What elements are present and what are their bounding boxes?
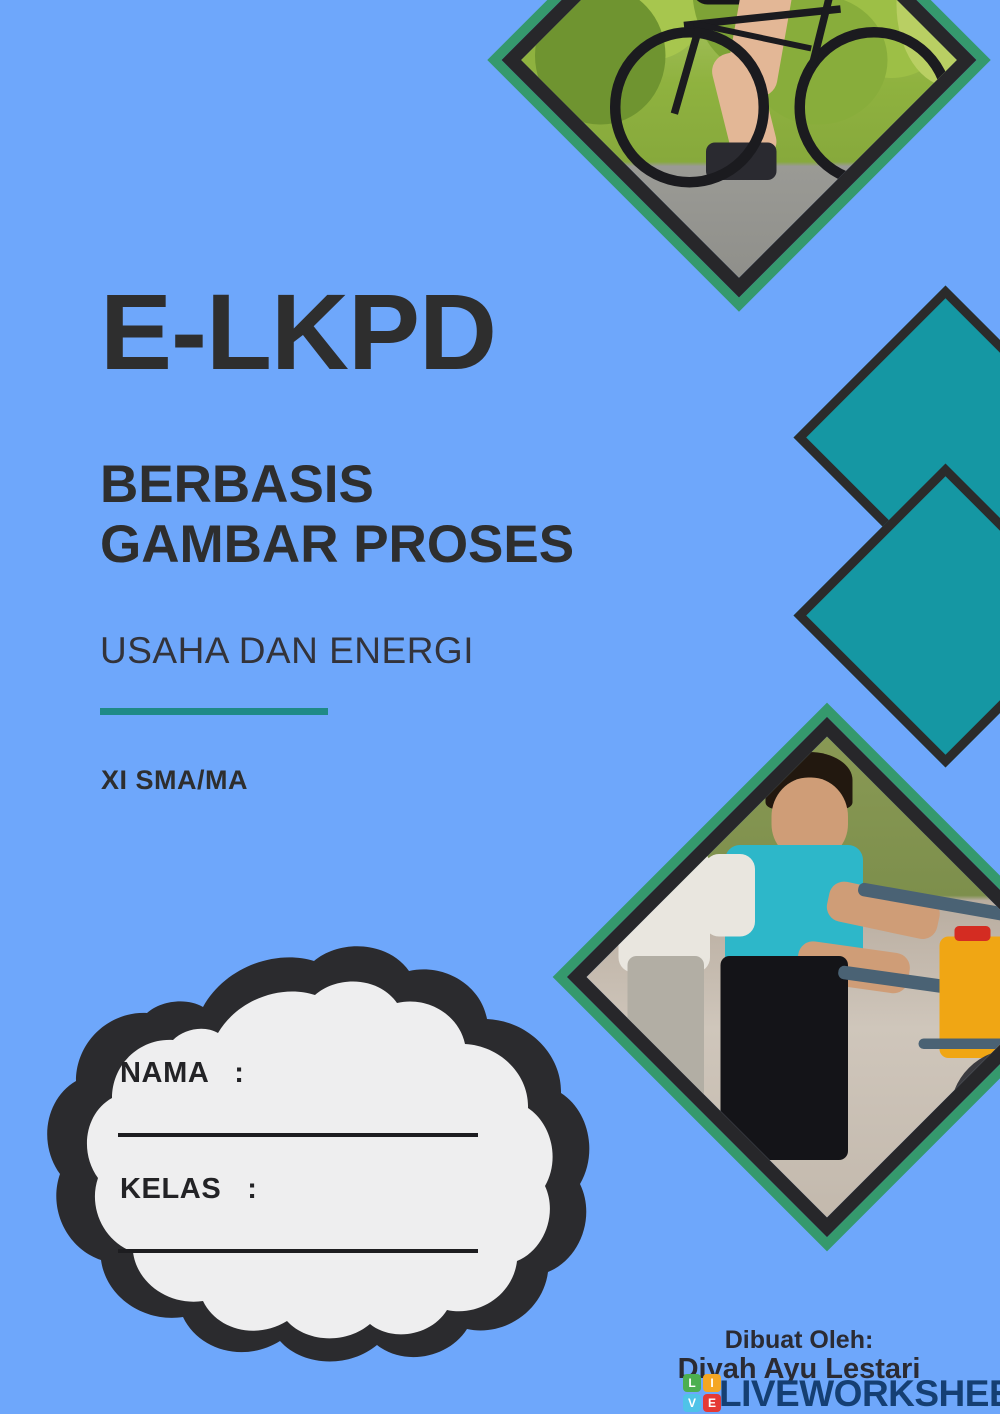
photo-cyclist-image [508, 0, 970, 291]
photo-cyclist [487, 0, 990, 312]
divider-rule [100, 708, 328, 715]
liveworksheets-logo-icon: L I V E [683, 1374, 721, 1412]
logo-tile-v: V [683, 1394, 701, 1412]
photo-water-cart-inner-border [567, 717, 1000, 1237]
credit-prefix: Dibuat Oleh: [598, 1328, 1000, 1353]
page-title: E-LKPD [100, 278, 496, 386]
logo-tile-l: L [683, 1374, 701, 1392]
student-info-cloud: NAMA : KELAS : [40, 945, 600, 1365]
watermark-label: LIVEWORKSHEETS [719, 1375, 1000, 1412]
grade-level: XI SMA/MA [101, 765, 248, 796]
field-nama-label: NAMA : [120, 1057, 245, 1089]
photo-water-cart [553, 703, 1000, 1252]
field-kelas-input[interactable] [118, 1249, 478, 1253]
liveworksheets-watermark: L I V E LIVEWORKSHEETS [683, 1372, 1000, 1414]
photo-water-cart-image [572, 722, 1000, 1232]
photo-cyclist-inner-border [501, 0, 976, 298]
field-nama-input[interactable] [118, 1133, 478, 1137]
field-nama: NAMA : [120, 1057, 245, 1090]
page-topic: USAHA DAN ENERGI [100, 630, 474, 672]
student-info-fields: NAMA : KELAS : [40, 945, 600, 1365]
field-kelas-label: KELAS : [120, 1173, 258, 1205]
field-kelas: KELAS : [120, 1173, 258, 1206]
page-subtitle: BERBASIS GAMBAR PROSES [100, 455, 574, 576]
cover-page: E-LKPD BERBASIS GAMBAR PROSES USAHA DAN … [0, 0, 1000, 1414]
